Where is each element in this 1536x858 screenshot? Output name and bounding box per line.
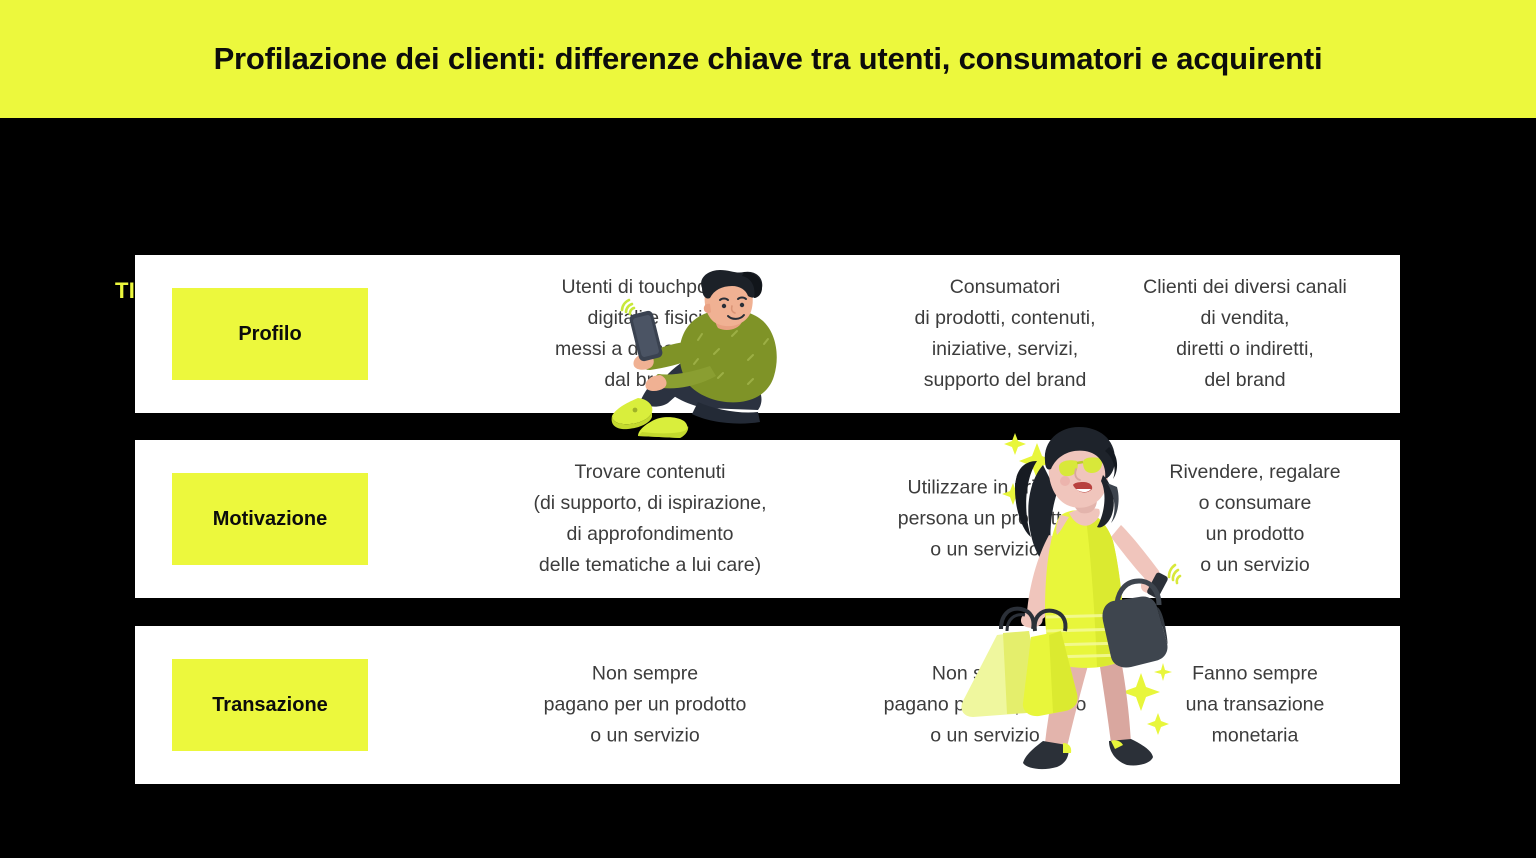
title-banner: Profilazione dei clienti: differenze chi… bbox=[0, 0, 1536, 118]
table-row-profilo: Profilo Utenti di touchpoint digitali e … bbox=[135, 255, 1400, 413]
cell-profilo-utente: Utenti di touchpoint digitali e fisici m… bbox=[435, 272, 855, 396]
row-label-profilo: Profilo bbox=[172, 288, 368, 380]
page-title: Profilazione dei clienti: differenze chi… bbox=[214, 41, 1323, 77]
table-row-motivazione: Motivazione Trovare contenuti (di suppor… bbox=[135, 440, 1400, 598]
row-label-motivazione: Motivazione bbox=[172, 473, 368, 565]
sneaker-shoe-2 bbox=[638, 417, 688, 438]
cell-motivazione-utente: Trovare contenuti (di supporto, di ispir… bbox=[430, 457, 870, 581]
cell-transazione-utente: Non sempre pagano per un prodotto o un s… bbox=[435, 659, 855, 752]
row-label-transazione: Transazione bbox=[172, 659, 368, 751]
cell-motivazione-consumatore: Utilizzare in prima persona un prodotto … bbox=[835, 473, 1135, 566]
cell-transazione-acquirente: Fanno sempre una transazione monetaria bbox=[1125, 659, 1385, 752]
cell-motivazione-acquirente: Rivendere, regalare o consumare un prodo… bbox=[1130, 457, 1380, 581]
cell-transazione-consumatore: Non sempre pagano per un prodotto o un s… bbox=[825, 659, 1145, 752]
table-header-row: TIPOLOGIA DI CLIENTE UTENTE CONSUMATORE … bbox=[0, 118, 1536, 255]
cell-profilo-acquirente: Clienti dei diversi canali di vendita, d… bbox=[1110, 272, 1380, 396]
table-row-transazione: Transazione Non sempre pagano per un pro… bbox=[135, 626, 1400, 784]
